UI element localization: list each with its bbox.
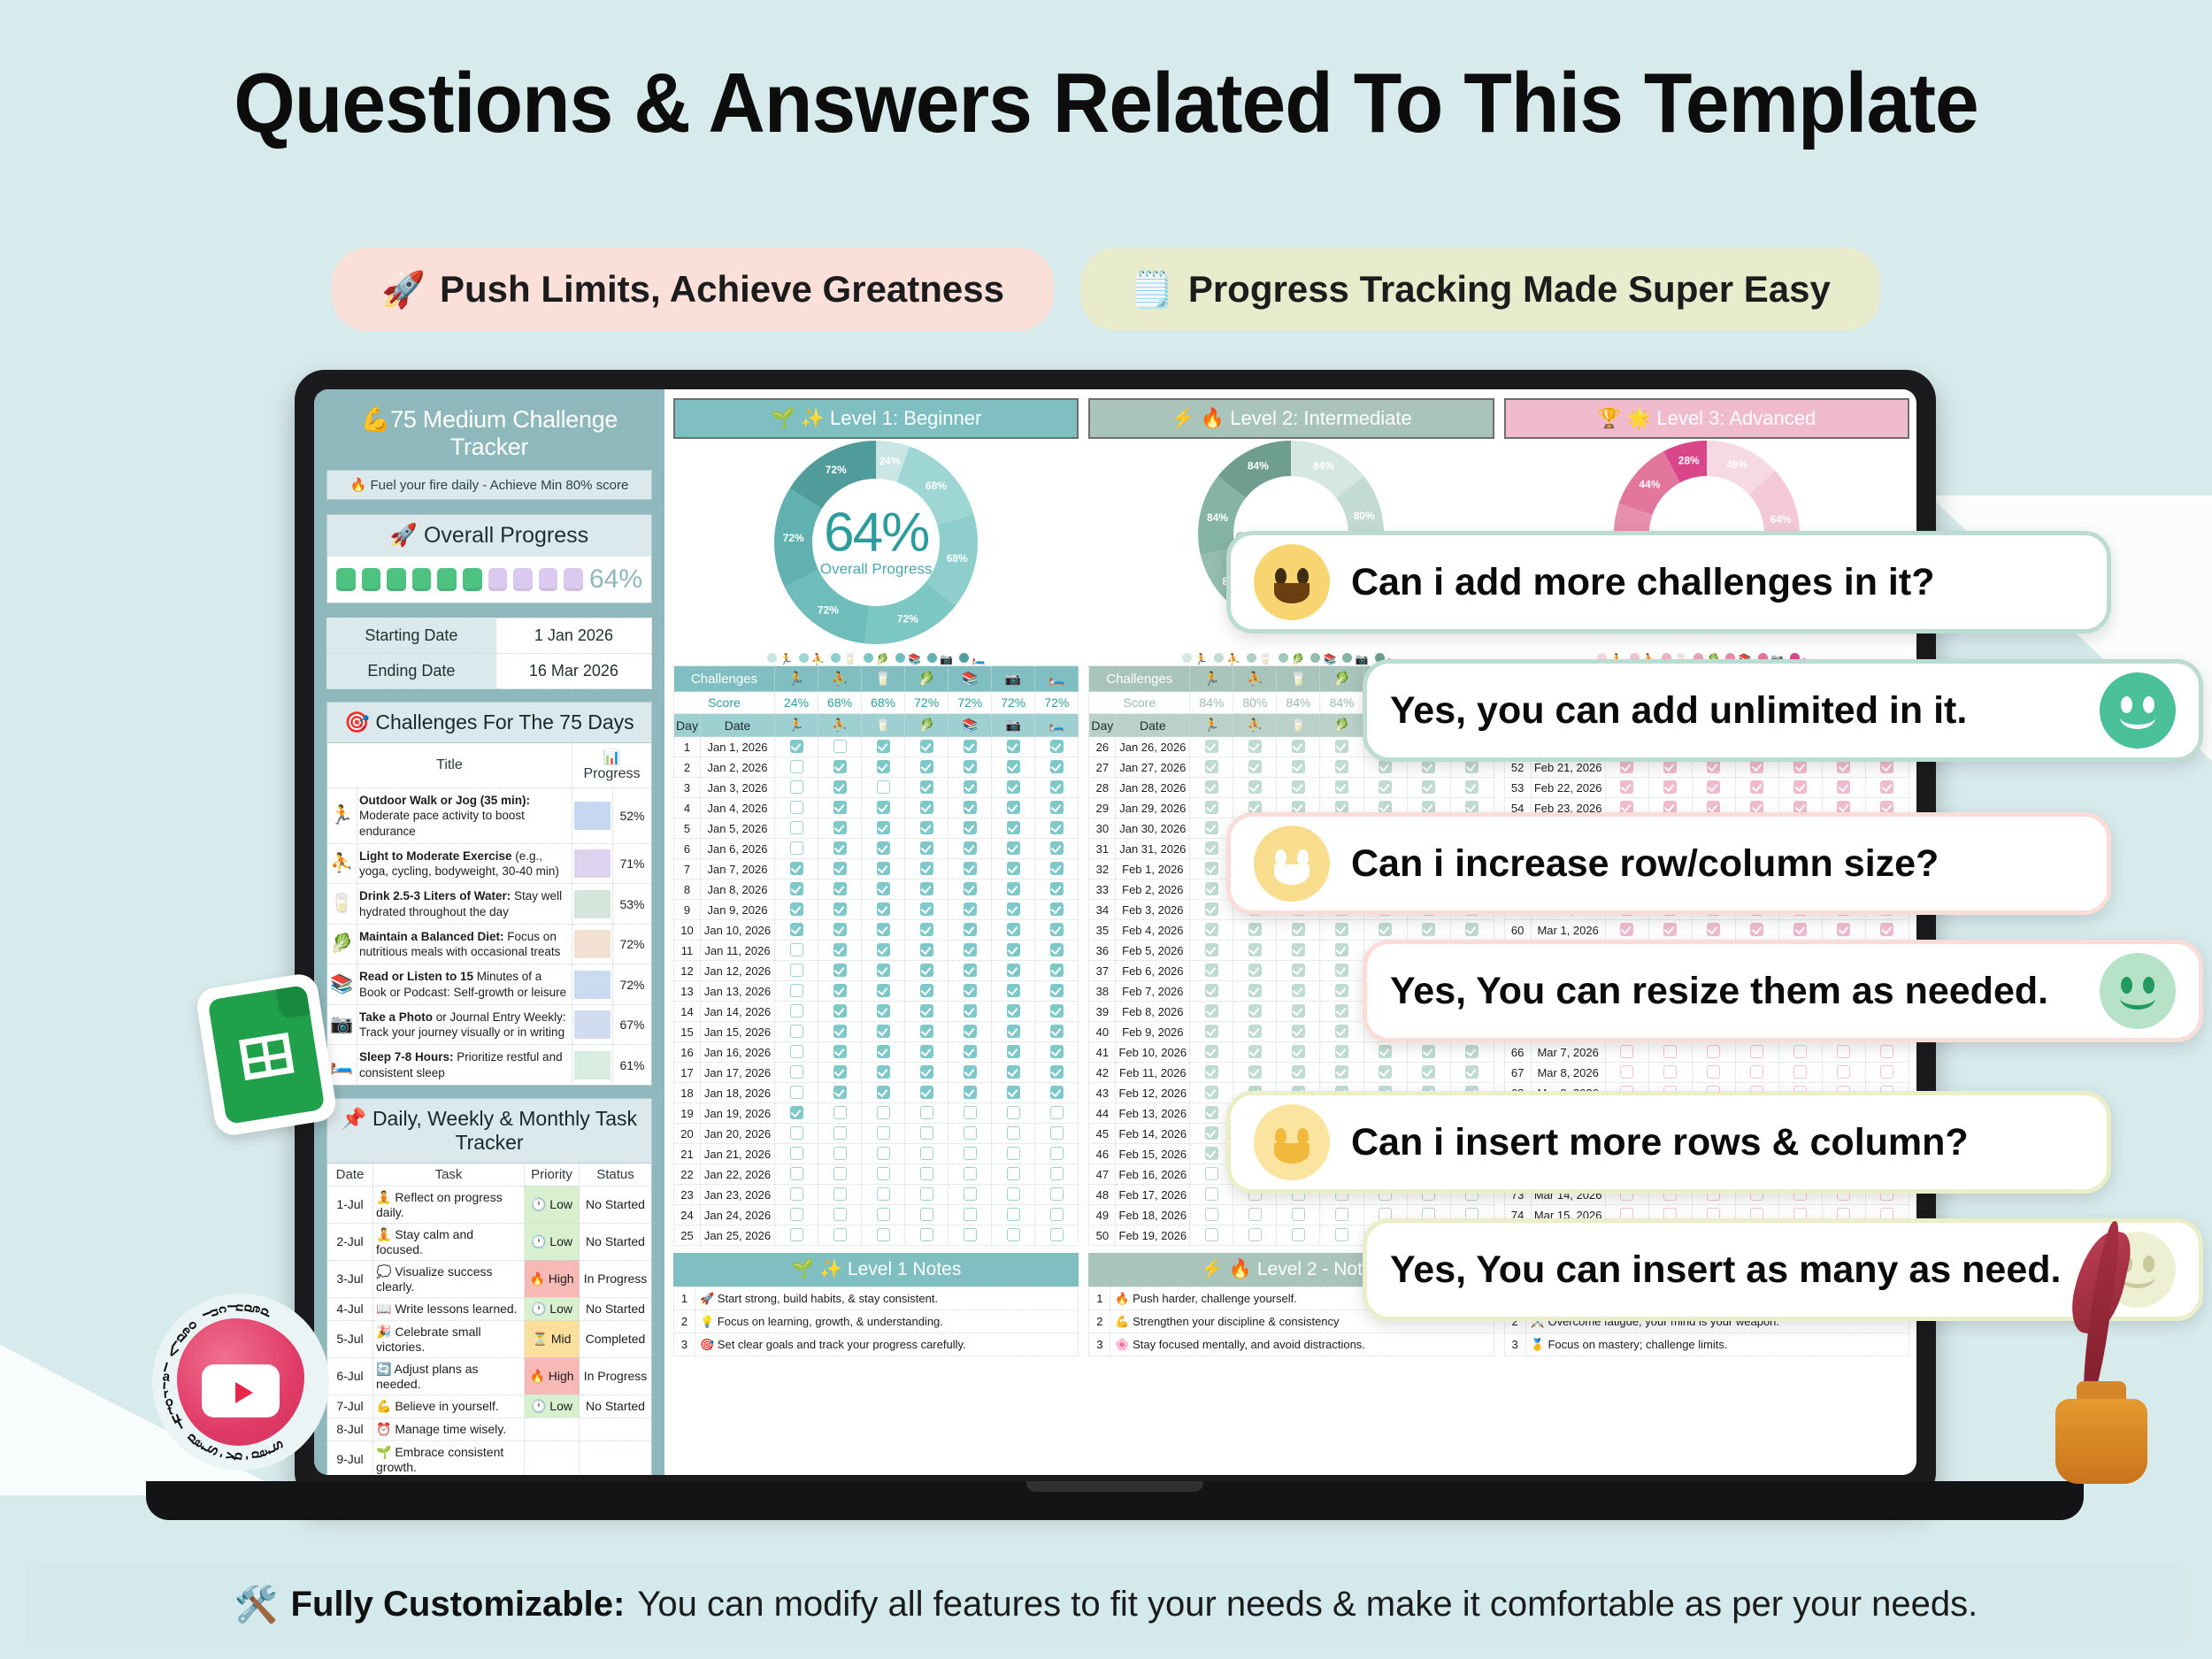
checkbox-cell[interactable] bbox=[1692, 920, 1735, 941]
checkbox[interactable] bbox=[1335, 760, 1348, 773]
checkbox[interactable] bbox=[1292, 923, 1305, 936]
checkbox-cell[interactable] bbox=[1035, 879, 1079, 900]
checkbox-cell[interactable] bbox=[775, 1144, 818, 1164]
checkbox[interactable] bbox=[1205, 801, 1218, 814]
checkbox-cell[interactable] bbox=[862, 757, 905, 778]
checkbox[interactable] bbox=[1050, 760, 1064, 773]
checkbox[interactable] bbox=[877, 841, 890, 855]
task-status[interactable]: Completed bbox=[580, 1320, 652, 1357]
checkbox[interactable] bbox=[1205, 1045, 1218, 1058]
checkbox[interactable] bbox=[964, 1187, 977, 1201]
checkbox[interactable] bbox=[833, 1065, 847, 1079]
checkbox[interactable] bbox=[1837, 1065, 1850, 1079]
task-name[interactable]: ⏰ Manage time wisely. bbox=[373, 1417, 525, 1440]
checkbox[interactable] bbox=[964, 1126, 977, 1140]
checkbox-cell[interactable] bbox=[818, 757, 862, 778]
checkbox[interactable] bbox=[1620, 923, 1633, 936]
checkbox[interactable] bbox=[964, 902, 977, 916]
checkbox[interactable] bbox=[1880, 780, 1893, 794]
tab-level-2[interactable]: ⚡ 🔥 Level 2: Intermediate bbox=[1088, 398, 1494, 439]
checkbox[interactable] bbox=[920, 780, 933, 794]
checkbox-cell[interactable] bbox=[992, 981, 1035, 1002]
checkbox[interactable] bbox=[790, 1228, 803, 1241]
checkbox[interactable] bbox=[1050, 740, 1064, 753]
checkbox-cell[interactable] bbox=[775, 1164, 818, 1185]
checkbox[interactable] bbox=[790, 984, 803, 997]
checkbox-cell[interactable] bbox=[949, 941, 992, 961]
checkbox[interactable] bbox=[1050, 1167, 1064, 1180]
checkbox[interactable] bbox=[1205, 1208, 1218, 1221]
checkbox-cell[interactable] bbox=[949, 1022, 992, 1042]
checkbox-cell[interactable] bbox=[775, 1225, 818, 1246]
checkbox-cell[interactable] bbox=[1320, 757, 1363, 778]
checkbox[interactable] bbox=[1292, 1045, 1305, 1058]
checkbox-cell[interactable] bbox=[818, 1144, 862, 1164]
checkbox[interactable] bbox=[790, 1045, 803, 1058]
checkbox-cell[interactable] bbox=[1320, 941, 1363, 961]
checkbox-cell[interactable] bbox=[1035, 737, 1079, 757]
task-status[interactable]: No Started bbox=[580, 1297, 652, 1320]
checkbox-cell[interactable] bbox=[1035, 1002, 1079, 1022]
checkbox[interactable] bbox=[833, 1004, 847, 1018]
checkbox[interactable] bbox=[1663, 1065, 1677, 1079]
checkbox[interactable] bbox=[1007, 923, 1020, 936]
checkbox[interactable] bbox=[877, 780, 890, 794]
checkbox-cell[interactable] bbox=[905, 839, 949, 859]
checkbox[interactable] bbox=[1007, 841, 1020, 855]
checkbox-cell[interactable] bbox=[1035, 859, 1079, 879]
task-status[interactable]: No Started bbox=[580, 1186, 652, 1223]
checkbox-cell[interactable] bbox=[1822, 1042, 1865, 1063]
checkbox-cell[interactable] bbox=[775, 839, 818, 859]
checkbox[interactable] bbox=[1050, 902, 1064, 916]
checkbox[interactable] bbox=[1050, 1025, 1064, 1038]
checkbox-cell[interactable] bbox=[1320, 920, 1363, 941]
checkbox[interactable] bbox=[877, 964, 890, 977]
checkbox-cell[interactable] bbox=[862, 839, 905, 859]
checkbox-cell[interactable] bbox=[818, 778, 862, 798]
checkbox-cell[interactable] bbox=[862, 1022, 905, 1042]
checkbox[interactable] bbox=[790, 1106, 803, 1119]
checkbox-cell[interactable] bbox=[862, 941, 905, 961]
checkbox-cell[interactable] bbox=[1190, 1022, 1233, 1042]
checkbox[interactable] bbox=[920, 964, 933, 977]
checkbox[interactable] bbox=[1248, 1025, 1262, 1038]
checkbox-cell[interactable] bbox=[1190, 1042, 1233, 1063]
checkbox-cell[interactable] bbox=[1605, 1042, 1648, 1063]
checkbox-cell[interactable] bbox=[949, 981, 992, 1002]
checkbox-cell[interactable] bbox=[1190, 941, 1233, 961]
checkbox-cell[interactable] bbox=[949, 798, 992, 818]
checkbox[interactable] bbox=[877, 760, 890, 773]
task-status[interactable] bbox=[580, 1440, 652, 1475]
checkbox[interactable] bbox=[1205, 821, 1218, 834]
checkbox[interactable] bbox=[1205, 923, 1218, 936]
checkbox[interactable] bbox=[1205, 1147, 1218, 1160]
checkbox-cell[interactable] bbox=[992, 920, 1035, 941]
checkbox[interactable] bbox=[1050, 1208, 1064, 1221]
checkbox-cell[interactable] bbox=[992, 1205, 1035, 1225]
checkbox-cell[interactable] bbox=[949, 1205, 992, 1225]
checkbox[interactable] bbox=[1880, 1045, 1893, 1058]
checkbox-cell[interactable] bbox=[1320, 1002, 1363, 1022]
checkbox[interactable] bbox=[920, 902, 933, 916]
checkbox-cell[interactable] bbox=[1320, 981, 1363, 1002]
checkbox[interactable] bbox=[877, 1208, 890, 1221]
checkbox[interactable] bbox=[1422, 1045, 1435, 1058]
checkbox[interactable] bbox=[1663, 1045, 1677, 1058]
checkbox[interactable] bbox=[920, 740, 933, 753]
task-priority[interactable] bbox=[525, 1417, 580, 1440]
task-priority[interactable] bbox=[525, 1440, 580, 1475]
checkbox[interactable] bbox=[964, 862, 977, 875]
checkbox[interactable] bbox=[1007, 1025, 1020, 1038]
checkbox[interactable] bbox=[790, 1208, 803, 1221]
checkbox-cell[interactable] bbox=[1692, 778, 1735, 798]
checkbox[interactable] bbox=[1050, 923, 1064, 936]
checkbox[interactable] bbox=[1465, 780, 1479, 794]
checkbox-cell[interactable] bbox=[905, 900, 949, 920]
checkbox-cell[interactable] bbox=[1320, 737, 1363, 757]
checkbox-cell[interactable] bbox=[1277, 1042, 1320, 1063]
checkbox[interactable] bbox=[1050, 801, 1064, 814]
checkbox-cell[interactable] bbox=[818, 941, 862, 961]
checkbox[interactable] bbox=[1050, 1228, 1064, 1241]
checkbox[interactable] bbox=[1880, 760, 1893, 773]
tab-level-3[interactable]: 🏆 🌟 Level 3: Advanced bbox=[1504, 398, 1909, 439]
checkbox[interactable] bbox=[833, 1126, 847, 1140]
checkbox-cell[interactable] bbox=[992, 1063, 1035, 1083]
checkbox[interactable] bbox=[964, 1086, 977, 1099]
checkbox-cell[interactable] bbox=[992, 1042, 1035, 1063]
checkbox-cell[interactable] bbox=[862, 1164, 905, 1185]
checkbox[interactable] bbox=[964, 1167, 977, 1180]
checkbox-cell[interactable] bbox=[862, 1063, 905, 1083]
checkbox-cell[interactable] bbox=[1233, 961, 1277, 981]
checkbox[interactable] bbox=[1248, 1208, 1262, 1221]
checkbox-cell[interactable] bbox=[992, 1083, 1035, 1103]
checkbox[interactable] bbox=[1335, 1065, 1348, 1079]
checkbox-cell[interactable] bbox=[905, 1205, 949, 1225]
checkbox[interactable] bbox=[833, 821, 847, 834]
checkbox-cell[interactable] bbox=[1035, 920, 1079, 941]
checkbox-cell[interactable] bbox=[1233, 737, 1277, 757]
checkbox[interactable] bbox=[920, 1045, 933, 1058]
checkbox-cell[interactable] bbox=[818, 1124, 862, 1144]
checkbox[interactable] bbox=[1050, 780, 1064, 794]
checkbox-cell[interactable] bbox=[1035, 1124, 1079, 1144]
checkbox-cell[interactable] bbox=[1363, 778, 1407, 798]
checkbox[interactable] bbox=[920, 1065, 933, 1079]
checkbox-cell[interactable] bbox=[862, 859, 905, 879]
checkbox-cell[interactable] bbox=[949, 1002, 992, 1022]
checkbox-cell[interactable] bbox=[949, 1225, 992, 1246]
checkbox[interactable] bbox=[1205, 780, 1218, 794]
checkbox[interactable] bbox=[920, 1106, 933, 1119]
checkbox[interactable] bbox=[1335, 1228, 1348, 1241]
checkbox[interactable] bbox=[1007, 1126, 1020, 1140]
checkbox[interactable] bbox=[1050, 862, 1064, 875]
checkbox-cell[interactable] bbox=[1450, 1042, 1494, 1063]
task-status[interactable]: No Started bbox=[580, 1394, 652, 1417]
checkbox-cell[interactable] bbox=[775, 1083, 818, 1103]
checkbox-cell[interactable] bbox=[1190, 1083, 1233, 1103]
checkbox[interactable] bbox=[1205, 964, 1218, 977]
checkbox-cell[interactable] bbox=[862, 1103, 905, 1124]
checkbox-cell[interactable] bbox=[992, 1022, 1035, 1042]
checkbox-cell[interactable] bbox=[862, 1205, 905, 1225]
checkbox[interactable] bbox=[1248, 923, 1262, 936]
checkbox-cell[interactable] bbox=[818, 1185, 862, 1205]
checkbox[interactable] bbox=[790, 841, 803, 855]
checkbox-cell[interactable] bbox=[1035, 1225, 1079, 1246]
task-name[interactable]: 🧘 Reflect on progress daily. bbox=[373, 1186, 525, 1223]
checkbox-cell[interactable] bbox=[1735, 1042, 1778, 1063]
checkbox-cell[interactable] bbox=[1450, 778, 1494, 798]
checkbox[interactable] bbox=[1793, 923, 1807, 936]
checkbox-cell[interactable] bbox=[905, 859, 949, 879]
checkbox[interactable] bbox=[790, 943, 803, 956]
checkbox-cell[interactable] bbox=[1035, 1063, 1079, 1083]
checkbox-cell[interactable] bbox=[775, 941, 818, 961]
checkbox-cell[interactable] bbox=[1233, 1002, 1277, 1022]
checkbox[interactable] bbox=[1750, 1065, 1763, 1079]
checkbox[interactable] bbox=[1050, 984, 1064, 997]
checkbox[interactable] bbox=[833, 964, 847, 977]
checkbox[interactable] bbox=[833, 862, 847, 875]
checkbox-cell[interactable] bbox=[818, 1063, 862, 1083]
task-name[interactable]: 🧘 Stay calm and focused. bbox=[373, 1223, 525, 1260]
checkbox-cell[interactable] bbox=[949, 1124, 992, 1144]
checkbox-cell[interactable] bbox=[1035, 757, 1079, 778]
checkbox[interactable] bbox=[1007, 740, 1020, 753]
checkbox-cell[interactable] bbox=[1277, 778, 1320, 798]
checkbox[interactable] bbox=[877, 902, 890, 916]
checkbox[interactable] bbox=[1793, 760, 1807, 773]
checkbox-cell[interactable] bbox=[992, 737, 1035, 757]
checkbox[interactable] bbox=[790, 1086, 803, 1099]
checkbox[interactable] bbox=[1205, 1126, 1218, 1140]
checkbox[interactable] bbox=[877, 984, 890, 997]
checkbox-cell[interactable] bbox=[818, 1103, 862, 1124]
checkbox-cell[interactable] bbox=[1035, 941, 1079, 961]
checkbox[interactable] bbox=[920, 984, 933, 997]
checkbox[interactable] bbox=[833, 801, 847, 814]
checkbox-cell[interactable] bbox=[905, 757, 949, 778]
checkbox[interactable] bbox=[1837, 923, 1850, 936]
checkbox[interactable] bbox=[790, 821, 803, 834]
checkbox[interactable] bbox=[1050, 1147, 1064, 1160]
checkbox[interactable] bbox=[920, 1126, 933, 1140]
task-name[interactable]: 🎉 Celebrate small victories. bbox=[373, 1320, 525, 1357]
checkbox-cell[interactable] bbox=[1277, 757, 1320, 778]
checkbox-cell[interactable] bbox=[862, 818, 905, 839]
checkbox-cell[interactable] bbox=[1407, 1042, 1450, 1063]
checkbox-cell[interactable] bbox=[818, 737, 862, 757]
checkbox[interactable] bbox=[1205, 882, 1218, 895]
checkbox[interactable] bbox=[1379, 1065, 1392, 1079]
checkbox[interactable] bbox=[1292, 1208, 1305, 1221]
checkbox[interactable] bbox=[1663, 760, 1677, 773]
checkbox[interactable] bbox=[877, 1065, 890, 1079]
checkbox[interactable] bbox=[790, 1004, 803, 1018]
checkbox[interactable] bbox=[964, 964, 977, 977]
checkbox[interactable] bbox=[964, 1045, 977, 1058]
checkbox[interactable] bbox=[1205, 1106, 1218, 1119]
checkbox-cell[interactable] bbox=[1190, 1063, 1233, 1083]
checkbox[interactable] bbox=[1007, 1086, 1020, 1099]
checkbox-cell[interactable] bbox=[1035, 839, 1079, 859]
checkbox-cell[interactable] bbox=[862, 879, 905, 900]
checkbox[interactable] bbox=[1793, 780, 1807, 794]
checkbox-cell[interactable] bbox=[818, 1205, 862, 1225]
checkbox-cell[interactable] bbox=[1648, 1063, 1692, 1083]
checkbox[interactable] bbox=[1205, 984, 1218, 997]
checkbox-cell[interactable] bbox=[1865, 778, 1909, 798]
task-status[interactable]: In Progress bbox=[580, 1357, 652, 1394]
starting-date-value[interactable]: 1 Jan 2026 bbox=[495, 618, 651, 654]
checkbox[interactable] bbox=[833, 1228, 847, 1241]
checkbox-cell[interactable] bbox=[818, 798, 862, 818]
checkbox-cell[interactable] bbox=[1605, 920, 1648, 941]
checkbox[interactable] bbox=[1007, 862, 1020, 875]
checkbox[interactable] bbox=[1007, 1065, 1020, 1079]
checkbox-cell[interactable] bbox=[1277, 737, 1320, 757]
checkbox-cell[interactable] bbox=[1233, 941, 1277, 961]
checkbox[interactable] bbox=[1750, 760, 1763, 773]
checkbox-cell[interactable] bbox=[905, 1063, 949, 1083]
checkbox-cell[interactable] bbox=[818, 981, 862, 1002]
checkbox[interactable] bbox=[790, 923, 803, 936]
checkbox-cell[interactable] bbox=[1320, 1225, 1363, 1246]
checkbox[interactable] bbox=[1248, 740, 1262, 753]
checkbox[interactable] bbox=[833, 984, 847, 997]
checkbox-cell[interactable] bbox=[1778, 1042, 1822, 1063]
checkbox[interactable] bbox=[833, 943, 847, 956]
checkbox-cell[interactable] bbox=[862, 1002, 905, 1022]
checkbox[interactable] bbox=[1465, 1045, 1479, 1058]
checkbox-cell[interactable] bbox=[1277, 1225, 1320, 1246]
checkbox[interactable] bbox=[833, 1167, 847, 1180]
checkbox[interactable] bbox=[1205, 902, 1218, 916]
checkbox-cell[interactable] bbox=[1233, 1225, 1277, 1246]
checkbox-cell[interactable] bbox=[775, 1022, 818, 1042]
checkbox-cell[interactable] bbox=[818, 1002, 862, 1022]
checkbox[interactable] bbox=[790, 760, 803, 773]
checkbox[interactable] bbox=[920, 1208, 933, 1221]
checkbox[interactable] bbox=[1248, 943, 1262, 956]
checkbox[interactable] bbox=[1335, 1004, 1348, 1018]
checkbox-cell[interactable] bbox=[949, 879, 992, 900]
checkbox[interactable] bbox=[1707, 760, 1720, 773]
checkbox-cell[interactable] bbox=[1277, 961, 1320, 981]
checkbox-cell[interactable] bbox=[905, 981, 949, 1002]
checkbox-cell[interactable] bbox=[818, 1225, 862, 1246]
checkbox-cell[interactable] bbox=[1735, 920, 1778, 941]
checkbox[interactable] bbox=[833, 902, 847, 916]
task-priority[interactable]: 🕐 Low bbox=[525, 1297, 580, 1320]
checkbox-cell[interactable] bbox=[1320, 961, 1363, 981]
ending-date-value[interactable]: 16 Mar 2026 bbox=[495, 654, 651, 689]
checkbox-cell[interactable] bbox=[905, 941, 949, 961]
checkbox-cell[interactable] bbox=[1778, 920, 1822, 941]
checkbox-cell[interactable] bbox=[775, 778, 818, 798]
checkbox[interactable] bbox=[964, 1065, 977, 1079]
checkbox-cell[interactable] bbox=[1605, 778, 1648, 798]
checkbox-cell[interactable] bbox=[1450, 1063, 1494, 1083]
checkbox-cell[interactable] bbox=[905, 961, 949, 981]
checkbox-cell[interactable] bbox=[1190, 778, 1233, 798]
checkbox-cell[interactable] bbox=[1407, 778, 1450, 798]
checkbox-cell[interactable] bbox=[1407, 920, 1450, 941]
checkbox[interactable] bbox=[1335, 1025, 1348, 1038]
checkbox[interactable] bbox=[964, 1147, 977, 1160]
checkbox-cell[interactable] bbox=[1407, 1063, 1450, 1083]
checkbox-cell[interactable] bbox=[949, 1063, 992, 1083]
checkbox[interactable] bbox=[790, 902, 803, 916]
checkbox[interactable] bbox=[1050, 1004, 1064, 1018]
checkbox-cell[interactable] bbox=[1233, 1022, 1277, 1042]
checkbox[interactable] bbox=[1007, 984, 1020, 997]
checkbox[interactable] bbox=[790, 1187, 803, 1201]
checkbox[interactable] bbox=[920, 862, 933, 875]
checkbox[interactable] bbox=[1007, 1045, 1020, 1058]
checkbox-cell[interactable] bbox=[905, 1124, 949, 1144]
checkbox-cell[interactable] bbox=[949, 1042, 992, 1063]
checkbox-cell[interactable] bbox=[818, 839, 862, 859]
checkbox[interactable] bbox=[920, 1147, 933, 1160]
checkbox-cell[interactable] bbox=[1190, 1002, 1233, 1022]
checkbox-cell[interactable] bbox=[1277, 1205, 1320, 1225]
task-priority[interactable]: 🔥 High bbox=[525, 1260, 580, 1297]
checkbox-cell[interactable] bbox=[1233, 1042, 1277, 1063]
checkbox[interactable] bbox=[833, 882, 847, 895]
checkbox-cell[interactable] bbox=[1648, 1042, 1692, 1063]
checkbox-cell[interactable] bbox=[1035, 1042, 1079, 1063]
checkbox[interactable] bbox=[1007, 760, 1020, 773]
checkbox-cell[interactable] bbox=[949, 1164, 992, 1185]
task-name[interactable]: 🔄 Adjust plans as needed. bbox=[373, 1357, 525, 1394]
checkbox[interactable] bbox=[877, 740, 890, 753]
checkbox[interactable] bbox=[1837, 1045, 1850, 1058]
checkbox[interactable] bbox=[1050, 1126, 1064, 1140]
checkbox[interactable] bbox=[1335, 943, 1348, 956]
checkbox[interactable] bbox=[1707, 923, 1720, 936]
task-priority[interactable]: ⏳ Mid bbox=[525, 1320, 580, 1357]
checkbox-cell[interactable] bbox=[862, 778, 905, 798]
checkbox-cell[interactable] bbox=[818, 879, 862, 900]
checkbox[interactable] bbox=[1335, 1208, 1348, 1221]
checkbox[interactable] bbox=[1379, 760, 1392, 773]
checkbox-cell[interactable] bbox=[949, 920, 992, 941]
checkbox[interactable] bbox=[1292, 1228, 1305, 1241]
checkbox[interactable] bbox=[833, 1106, 847, 1119]
checkbox[interactable] bbox=[1620, 1045, 1633, 1058]
checkbox-cell[interactable] bbox=[949, 778, 992, 798]
checkbox-cell[interactable] bbox=[1363, 1042, 1407, 1063]
checkbox-cell[interactable] bbox=[1233, 778, 1277, 798]
checkbox-cell[interactable] bbox=[1692, 1063, 1735, 1083]
checkbox-cell[interactable] bbox=[992, 778, 1035, 798]
checkbox-cell[interactable] bbox=[1233, 981, 1277, 1002]
checkbox[interactable] bbox=[920, 882, 933, 895]
checkbox-cell[interactable] bbox=[1035, 981, 1079, 1002]
checkbox[interactable] bbox=[1707, 1065, 1720, 1079]
checkbox[interactable] bbox=[877, 862, 890, 875]
checkbox[interactable] bbox=[877, 821, 890, 834]
checkbox[interactable] bbox=[964, 841, 977, 855]
checkbox-cell[interactable] bbox=[1233, 920, 1277, 941]
